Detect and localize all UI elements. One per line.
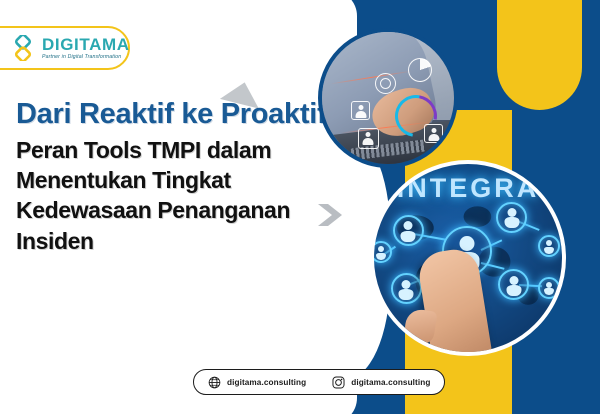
- person-head-glyph: [459, 236, 474, 251]
- person-body-glyph: [504, 217, 519, 228]
- headline-block: Dari Reaktif ke Proaktif Peran Tools TMP…: [16, 98, 334, 256]
- person-head-glyph: [402, 280, 411, 289]
- person-body-glyph: [544, 247, 554, 254]
- person-head-glyph: [378, 246, 384, 252]
- person-body-glyph: [399, 289, 414, 300]
- person-node-icon: [393, 215, 424, 246]
- instagram-icon: [332, 376, 345, 389]
- person-node-icon: [391, 273, 422, 304]
- person-head-glyph: [507, 208, 516, 217]
- person-head-glyph: [404, 221, 413, 230]
- person-head-glyph: [546, 282, 552, 288]
- person-body-glyph: [506, 285, 521, 296]
- logo-wordmark: DIGITAMA: [42, 36, 130, 53]
- user-card-icon: [424, 124, 443, 143]
- logo-text-group: DIGITAMA Partner in Digital Transformati…: [42, 36, 130, 60]
- footer-contact-bar: digitama.consulting digitama.consulting: [193, 369, 445, 395]
- footer-instagram-label: digitama.consulting: [351, 378, 430, 387]
- logo-badge: DIGITAMA Partner in Digital Transformati…: [0, 26, 130, 70]
- person-card-icon: [351, 101, 370, 120]
- person-body-glyph: [376, 253, 386, 260]
- person-node-icon: [538, 277, 560, 299]
- person-head-glyph: [546, 240, 552, 246]
- person-node-icon: [496, 202, 527, 233]
- integra-overlay-text: INTEGRA: [374, 173, 562, 204]
- person-body-glyph: [544, 288, 554, 295]
- person-glyph: [358, 105, 363, 110]
- person-glyph: [366, 132, 371, 137]
- person-node-icon: [538, 235, 560, 257]
- target-icon: [375, 73, 396, 94]
- person-body-glyph: [401, 231, 416, 242]
- photo-integration-circle: INTEGRA: [370, 160, 566, 356]
- photo-laptop-circle: [318, 28, 458, 168]
- page-subtitle: Peran Tools TMPI dalam Menentukan Tingka…: [16, 135, 334, 256]
- pie-chart-icon: [408, 58, 432, 82]
- yellow-arch-shape: [497, 0, 582, 110]
- footer-website-item[interactable]: digitama.consulting: [208, 376, 306, 389]
- interlocking-diamonds-icon: [10, 35, 36, 61]
- globe-icon: [208, 376, 221, 389]
- logo-tagline: Partner in Digital Transformation: [42, 55, 130, 60]
- person-head-glyph: [509, 276, 518, 285]
- footer-instagram-item[interactable]: digitama.consulting: [332, 376, 430, 389]
- page-title: Dari Reaktif ke Proaktif: [16, 98, 334, 131]
- group-card-icon: [358, 128, 379, 149]
- footer-website-label: digitama.consulting: [227, 378, 306, 387]
- poster-canvas: DIGITAMA Partner in Digital Transformati…: [0, 0, 600, 414]
- person-glyph: [431, 128, 436, 133]
